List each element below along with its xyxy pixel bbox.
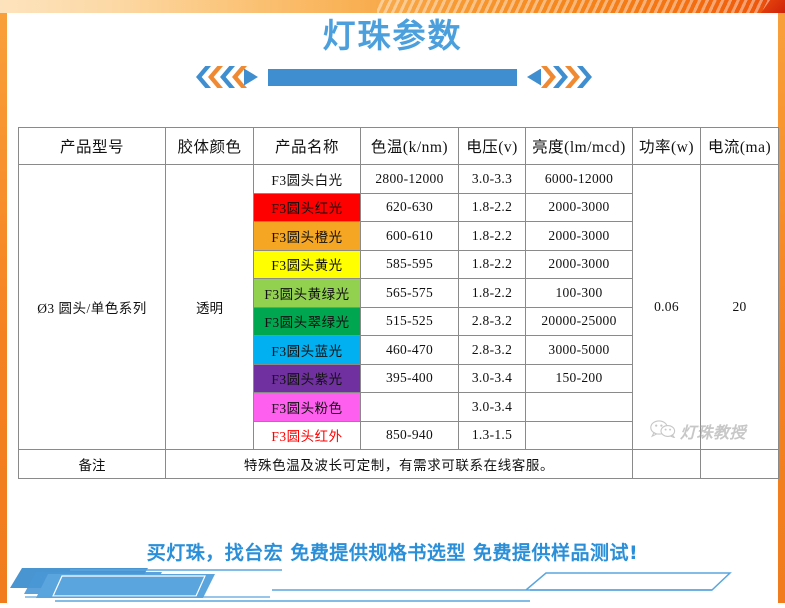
cell-product-name: F3圆头红光 — [254, 193, 361, 222]
left-orange-edge — [0, 13, 7, 603]
cell-voltage: 2.8-3.2 — [459, 307, 526, 336]
footer-shape-left-front — [36, 574, 215, 598]
cell-color-temp: 585-595 — [361, 250, 459, 279]
cell-brightness: 20000-25000 — [526, 307, 633, 336]
cell-remark-power-spacer — [633, 450, 701, 479]
table-header-row: 产品型号 胶体颜色 产品名称 色温(k/nm) 电压(v) 亮度(lm/mcd)… — [19, 128, 779, 165]
column-header-brightness: 亮度(lm/mcd) — [526, 128, 633, 165]
footer-shape-right — [272, 573, 730, 590]
cell-voltage: 1.3-1.5 — [459, 421, 526, 450]
footer-shape-left-outline — [53, 576, 205, 596]
cell-voltage: 3.0-3.4 — [459, 364, 526, 393]
title-divider — [0, 62, 785, 92]
cell-remark-current-spacer — [701, 450, 779, 479]
cell-brightness — [526, 393, 633, 422]
column-header-model: 产品型号 — [19, 128, 166, 165]
cell-product-name: F3圆头粉色 — [254, 393, 361, 422]
cell-brightness — [526, 421, 633, 450]
cell-voltage: 3.0-3.4 — [459, 393, 526, 422]
cell-product-name: F3圆头黄光 — [254, 250, 361, 279]
cell-brightness: 6000-12000 — [526, 165, 633, 194]
cell-product-name: F3圆头紫光 — [254, 364, 361, 393]
cell-brightness: 3000-5000 — [526, 336, 633, 365]
cell-voltage: 1.8-2.2 — [459, 222, 526, 251]
column-header-current: 电流(ma) — [701, 128, 779, 165]
cell-voltage: 2.8-3.2 — [459, 336, 526, 365]
banner-diagonal-stripes — [377, 0, 785, 13]
cell-current: 20 — [701, 165, 779, 450]
page-title: 灯珠参数 — [0, 16, 785, 56]
cell-brightness: 2000-3000 — [526, 250, 633, 279]
cell-color-temp: 850-940 — [361, 421, 459, 450]
column-header-power: 功率(w) — [633, 128, 701, 165]
cell-voltage: 1.8-2.2 — [459, 193, 526, 222]
cell-product-name: F3圆头红外 — [254, 421, 361, 450]
cell-brightness: 2000-3000 — [526, 222, 633, 251]
footer-shape-left-mid — [24, 572, 162, 594]
cell-product-name: F3圆头黄绿光 — [254, 279, 361, 308]
divider-bar-arrow-left — [244, 69, 258, 86]
cell-remark-label: 备注 — [19, 450, 166, 479]
footer-decoration — [0, 560, 785, 603]
page-title-container: 灯珠参数 — [0, 16, 785, 56]
divider-bar — [268, 69, 517, 86]
cell-product-name: F3圆头蓝光 — [254, 336, 361, 365]
cell-voltage: 3.0-3.3 — [459, 165, 526, 194]
cell-color-temp: 565-575 — [361, 279, 459, 308]
column-header-product-name: 产品名称 — [254, 128, 361, 165]
cell-voltage: 1.8-2.2 — [459, 279, 526, 308]
cell-color-temp: 600-610 — [361, 222, 459, 251]
table-row: Ø3 圆头/单色系列透明F3圆头白光2800-120003.0-3.36000-… — [19, 165, 779, 194]
table-body: Ø3 圆头/单色系列透明F3圆头白光2800-120003.0-3.36000-… — [19, 165, 779, 479]
cell-product-name: F3圆头白光 — [254, 165, 361, 194]
footer-shape-left-back — [10, 568, 148, 588]
divider-bar-arrow-right — [527, 69, 541, 86]
cell-remark-text: 特殊色温及波长可定制，有需求可联系在线客服。 — [166, 450, 633, 479]
cell-color-temp: 620-630 — [361, 193, 459, 222]
table-remark-row: 备注特殊色温及波长可定制，有需求可联系在线客服。 — [19, 450, 779, 479]
cell-product-name: F3圆头橙光 — [254, 222, 361, 251]
cell-voltage: 1.8-2.2 — [459, 250, 526, 279]
cell-color-temp: 395-400 — [361, 364, 459, 393]
footer-slogan: 买灯珠，找台宏 免费提供规格书选型 免费提供样品测试! — [0, 538, 785, 565]
spec-table-container: 产品型号 胶体颜色 产品名称 色温(k/nm) 电压(v) 亮度(lm/mcd)… — [18, 127, 778, 479]
cell-brightness: 100-300 — [526, 279, 633, 308]
cell-product-name: F3圆头翠绿光 — [254, 307, 361, 336]
cell-brightness: 150-200 — [526, 364, 633, 393]
column-header-color-temp: 色温(k/nm) — [361, 128, 459, 165]
top-orange-banner — [0, 0, 785, 13]
chevron-right-icon-1 — [541, 66, 556, 88]
cell-color-temp: 2800-12000 — [361, 165, 459, 194]
column-header-colloid-color: 胶体颜色 — [166, 128, 254, 165]
cell-color-temp: 460-470 — [361, 336, 459, 365]
cell-model: Ø3 圆头/单色系列 — [19, 165, 166, 450]
cell-brightness: 2000-3000 — [526, 193, 633, 222]
cell-color-temp: 515-525 — [361, 307, 459, 336]
right-orange-edge — [778, 13, 785, 603]
led-spec-table: 产品型号 胶体颜色 产品名称 色温(k/nm) 电压(v) 亮度(lm/mcd)… — [18, 127, 779, 479]
cell-color-temp — [361, 393, 459, 422]
cell-colloid-color: 透明 — [166, 165, 254, 450]
cell-power: 0.06 — [633, 165, 701, 450]
column-header-voltage: 电压(v) — [459, 128, 526, 165]
